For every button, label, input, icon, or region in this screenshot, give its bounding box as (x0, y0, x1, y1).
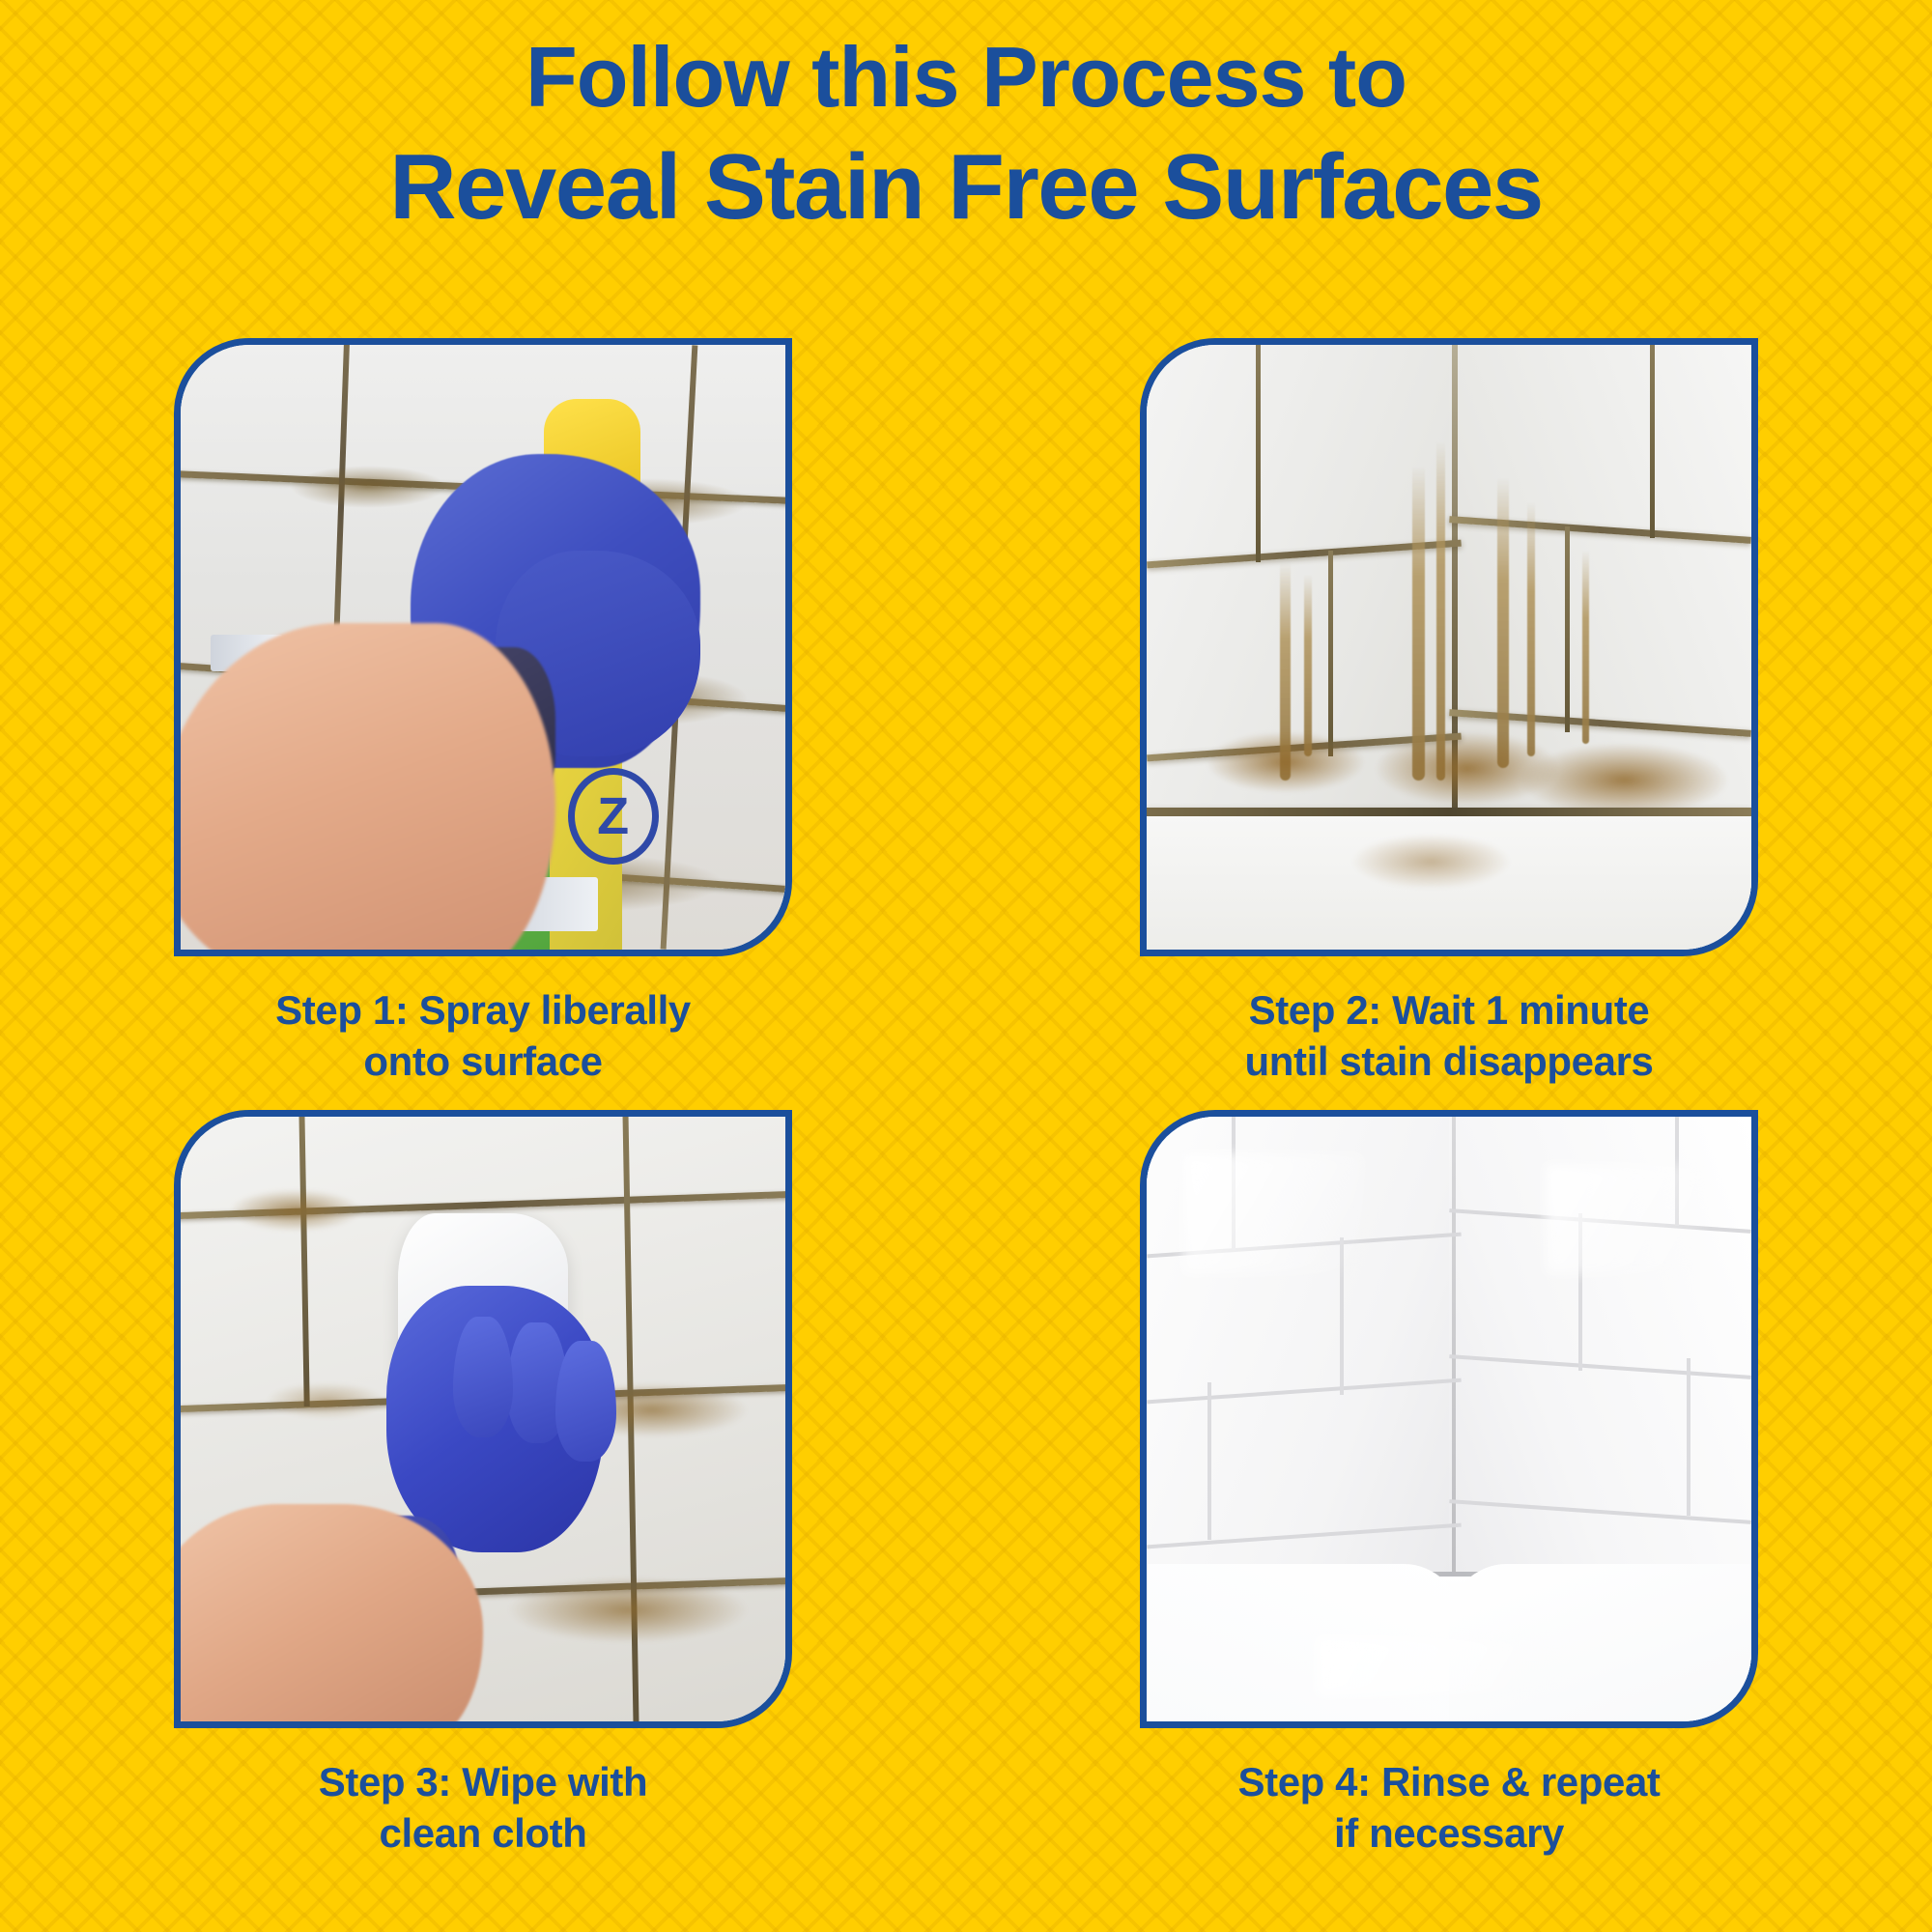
step-1-photo: Z (181, 345, 785, 950)
step-4-caption-line-2: if necessary (1334, 1810, 1564, 1856)
headline-line-1: Follow this Process to (0, 33, 1932, 122)
step-4-photo-frame (1140, 1110, 1758, 1728)
step-3-caption-line-2: clean cloth (380, 1810, 587, 1856)
page-title: Follow this Process to Reveal Stain Free… (0, 33, 1932, 235)
step-3-photo (181, 1117, 785, 1721)
step-card-4: Step 4: Rinse & repeat if necessary (966, 1110, 1932, 1859)
step-3-caption-line-1: Step 3: Wipe with (319, 1759, 648, 1804)
step-4-caption-line-1: Step 4: Rinse & repeat (1238, 1759, 1661, 1804)
step-3-photo-frame (174, 1110, 792, 1728)
step-1-photo-frame: Z (174, 338, 792, 956)
step-1-caption-line-1: Step 1: Spray liberally (275, 987, 691, 1033)
step-2-caption-line-1: Step 2: Wait 1 minute (1249, 987, 1650, 1033)
step-2-photo-frame (1140, 338, 1758, 956)
step-2-caption-line-2: until stain disappears (1245, 1038, 1654, 1084)
bottle-logo-letter: Z (568, 768, 659, 865)
step-card-3: Step 3: Wipe with clean cloth (0, 1110, 966, 1859)
steps-grid: Z Step 1: Spray liberally onto surface (0, 338, 1932, 1859)
step-card-1: Z Step 1: Spray liberally onto surface (0, 338, 966, 1087)
step-2-photo (1147, 345, 1751, 950)
step-2-caption: Step 2: Wait 1 minute until stain disapp… (1245, 985, 1654, 1087)
step-card-2: Step 2: Wait 1 minute until stain disapp… (966, 338, 1932, 1087)
step-1-caption-line-2: onto surface (363, 1038, 602, 1084)
step-3-caption: Step 3: Wipe with clean cloth (319, 1757, 648, 1859)
poster-root: Follow this Process to Reveal Stain Free… (0, 0, 1932, 1932)
step-4-photo (1147, 1117, 1751, 1721)
step-1-caption: Step 1: Spray liberally onto surface (275, 985, 691, 1087)
headline-line-2: Reveal Stain Free Surfaces (0, 139, 1932, 236)
step-4-caption: Step 4: Rinse & repeat if necessary (1238, 1757, 1661, 1859)
